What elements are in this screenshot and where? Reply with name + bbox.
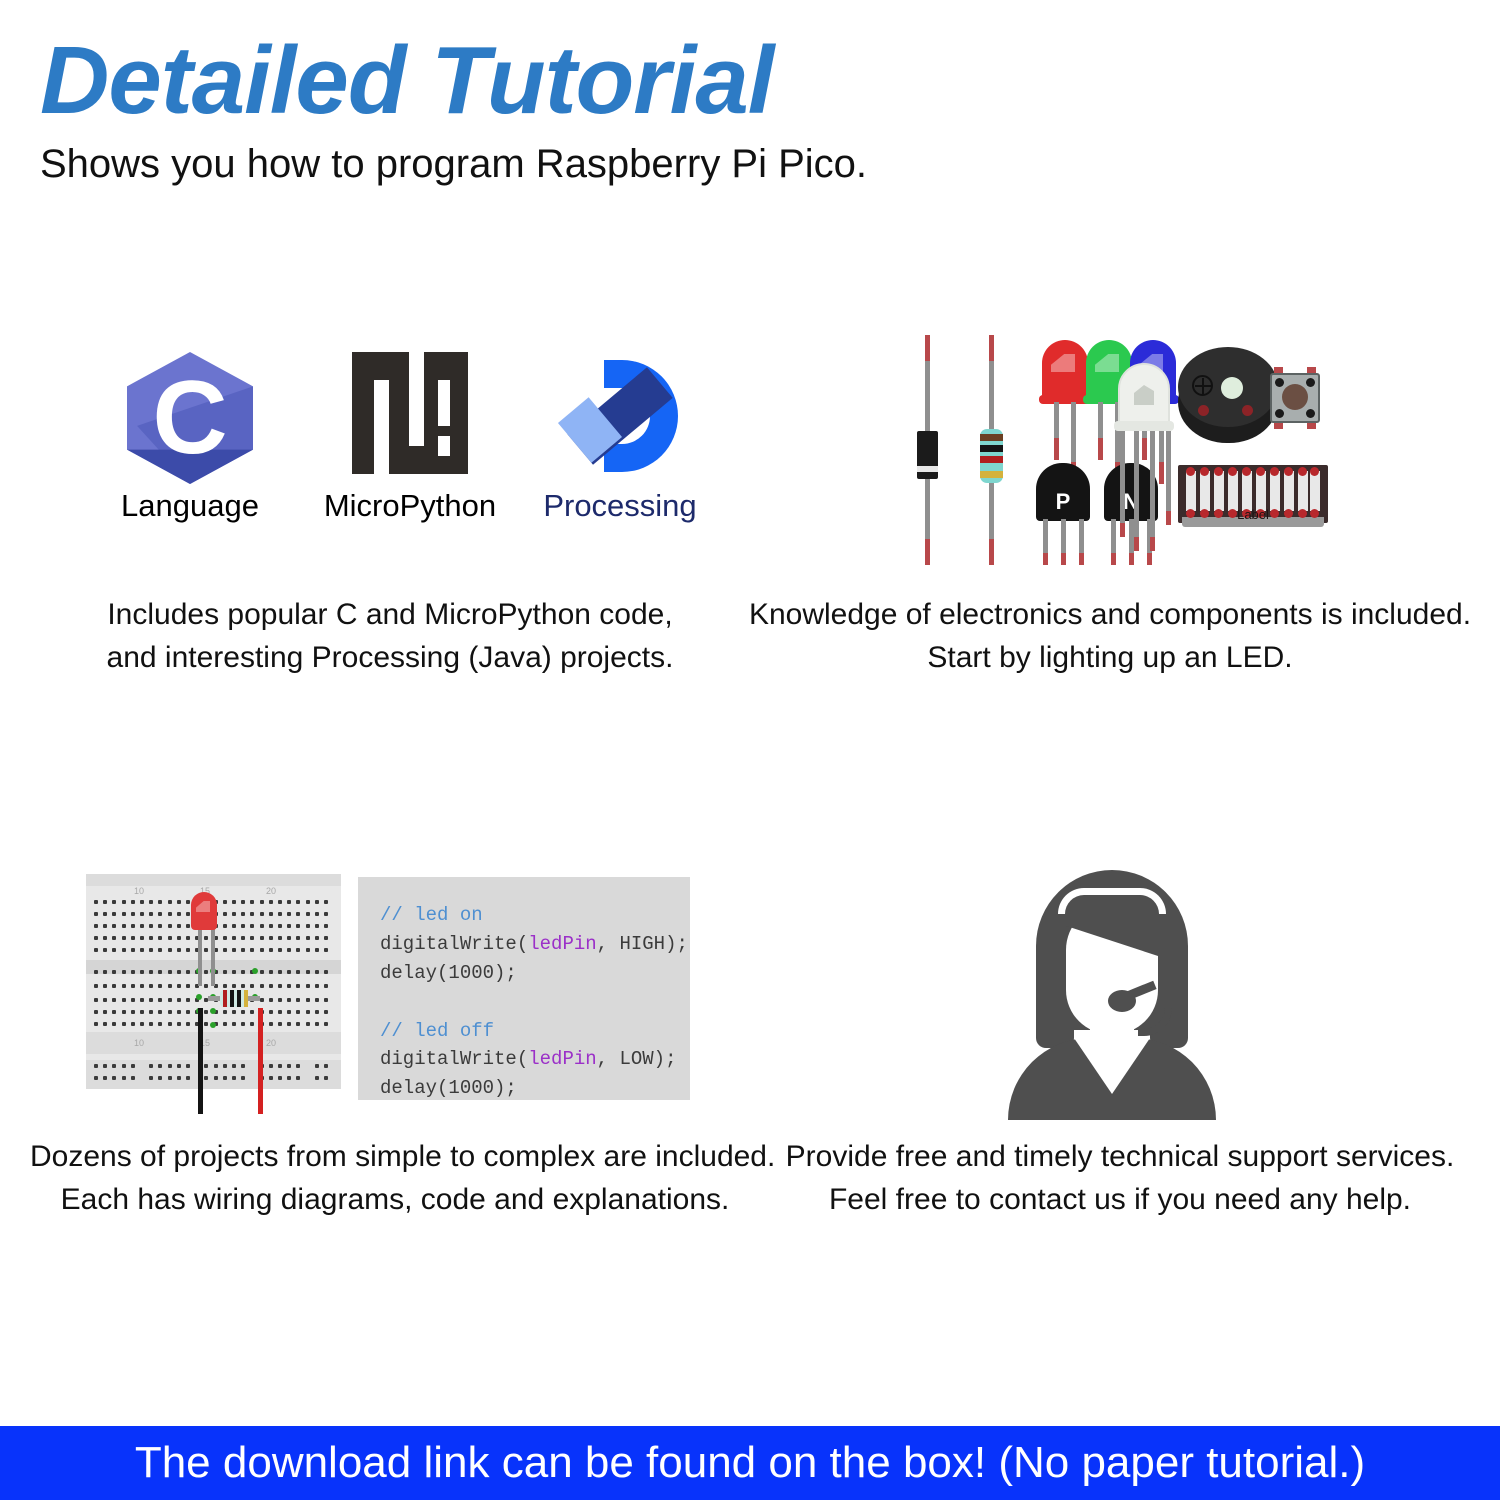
breadboard-led-leg-1 [198, 928, 202, 986]
code-delay-1: delay(1000); [380, 962, 517, 984]
components-caption-line1: Knowledge of electronics and components … [740, 594, 1480, 637]
page-subtitle: Shows you how to program Raspberry Pi Pi… [40, 142, 867, 187]
micropython-label: MicroPython [310, 488, 510, 524]
support-caption-line2: Feel free to contact us if you need any … [770, 1179, 1470, 1222]
breadboard-col-label-10-bottom: 10 [134, 1038, 144, 1048]
resistor-icon [976, 335, 1008, 565]
download-link-banner-text: The download link can be found on the bo… [135, 1438, 1365, 1488]
breadboard-led-leg-2 [211, 928, 215, 986]
processing-mark-icon [520, 352, 720, 482]
components-caption: Knowledge of electronics and components … [740, 594, 1480, 679]
components-caption-line2: Start by lighting up an LED. [740, 637, 1480, 680]
c-language-hexagon-icon: C [90, 352, 290, 482]
support-agent-headset-icon [962, 862, 1262, 1120]
breadboard-wire-black [198, 1008, 203, 1114]
micropython-logo: MicroPython [310, 352, 510, 524]
code-var-ledpin-2: ledPin [528, 1048, 596, 1070]
led-bargraph-icon: Label [1178, 457, 1328, 529]
breadboard-col-label-10-top: 10 [134, 886, 144, 896]
support-caption-line1: Provide free and timely technical suppor… [770, 1136, 1470, 1179]
language-logos-group: C Language MicroPython [90, 352, 730, 542]
code-snippet: // led on digitalWrite(ledPin, HIGH); de… [358, 877, 690, 1100]
code-digitalwrite-low-b: , LOW); [597, 1048, 677, 1070]
code-delay-2: delay(1000); [380, 1077, 517, 1099]
tutorial-infographic: Detailed Tutorial Shows you how to progr… [0, 0, 1500, 1500]
c-letter: C [127, 366, 253, 470]
transistor-pnp-label: P [1036, 489, 1090, 515]
projects-caption: Dozens of projects from simple to comple… [30, 1136, 760, 1221]
rgb-led-icon [1118, 363, 1178, 553]
code-comment-led-off: // led off [380, 1020, 494, 1042]
led-bargraph-label: Label [1178, 507, 1328, 522]
breadboard-col-label-20-bottom: 20 [266, 1038, 276, 1048]
code-comment-led-on: // led on [380, 904, 483, 926]
breadboard-wire-red [258, 1008, 263, 1114]
languages-caption: Includes popular C and MicroPython code,… [40, 594, 740, 679]
breadboard-diagram: 10 15 20 10 15 20 [86, 874, 341, 1114]
processing-label: Processing [520, 488, 720, 524]
c-language-logo: C Language [90, 352, 290, 524]
page-title: Detailed Tutorial [40, 26, 773, 136]
tact-switch-icon [1264, 367, 1326, 429]
processing-logo: Processing [520, 352, 720, 524]
micropython-mark-icon [310, 352, 510, 482]
projects-caption-line2: Each has wiring diagrams, code and expla… [30, 1179, 760, 1222]
projects-caption-line1: Dozens of projects from simple to comple… [30, 1136, 760, 1179]
c-language-label: Language [90, 488, 290, 524]
breadboard-resistor [208, 996, 260, 1001]
code-digitalwrite-high-b: , HIGH); [597, 933, 688, 955]
breadboard-led [191, 892, 217, 930]
code-digitalwrite-low-a: digitalWrite( [380, 1048, 528, 1070]
components-group: P N [890, 325, 1330, 560]
download-link-banner: The download link can be found on the bo… [0, 1426, 1500, 1500]
code-digitalwrite-high-a: digitalWrite( [380, 933, 528, 955]
code-var-ledpin-1: ledPin [528, 933, 596, 955]
languages-caption-line1: Includes popular C and MicroPython code, [40, 594, 740, 637]
support-caption: Provide free and timely technical suppor… [770, 1136, 1470, 1221]
breadboard-col-label-20-top: 20 [266, 886, 276, 896]
languages-caption-line2: and interesting Processing (Java) projec… [40, 637, 740, 680]
diode-icon [912, 335, 944, 565]
buzzer-icon [1178, 347, 1278, 443]
